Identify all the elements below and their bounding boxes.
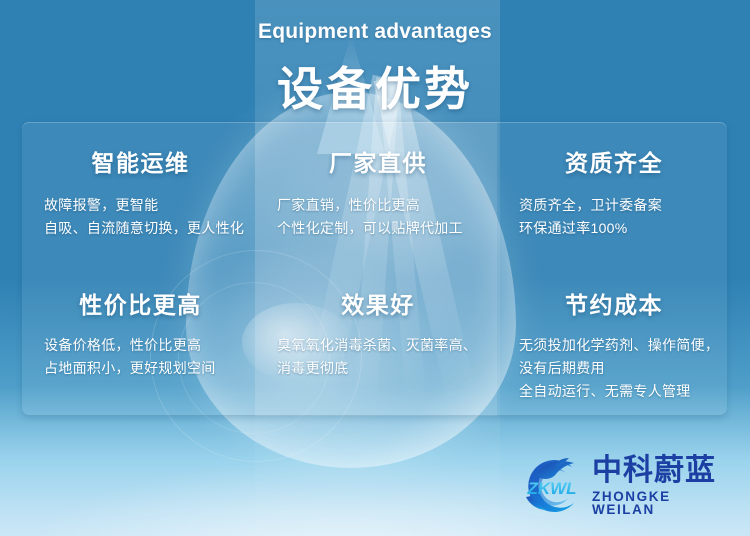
feature-description: 臭氧氧化消毒杀菌、灭菌率高、 消毒更彻底	[277, 334, 479, 380]
feature-line: 全自动运行、无需专人管理	[519, 380, 709, 403]
feature-description: 设备价格低，性价比更高 占地面积小，更好规划空间	[44, 334, 237, 380]
feature-line: 自吸、自流随意切换，更人性化	[44, 217, 237, 240]
logo-wordmark: 中科蔚蓝 ZHONGKE WEILAN	[592, 456, 738, 517]
feature-line: 无须投加化学药剂、操作简便，	[519, 334, 709, 357]
dolphin-circle-icon: ZKWL	[516, 453, 588, 519]
feature-line: 消毒更彻底	[277, 357, 479, 380]
feature-line: 设备价格低，性价比更高	[44, 334, 237, 357]
poster-canvas: Equipment advantages 设备优势 智能运维 故障报警，更智能 …	[0, 0, 750, 536]
page-title: 设备优势	[0, 53, 750, 119]
feature-description: 资质齐全，卫计委备案 环保通过率100%	[519, 194, 709, 240]
feature-line: 资质齐全，卫计委备案	[519, 194, 709, 217]
logo-name-en: ZHONGKE WEILAN	[592, 490, 738, 517]
feature-line: 厂家直销，性价比更高	[277, 194, 479, 217]
feature-line: 故障报警，更智能	[44, 194, 237, 217]
feature-description: 无须投加化学药剂、操作简便， 没有后期费用 全自动运行、无需专人管理	[519, 334, 709, 403]
feature-line: 环保通过率100%	[519, 217, 709, 240]
feature-title: 节约成本	[519, 286, 709, 320]
feature-cell-cost-performance: 性价比更高 设备价格低，性价比更高 占地面积小，更好规划空间	[22, 262, 255, 416]
features-grid: 智能运维 故障报警，更智能 自吸、自流随意切换，更人性化 厂家直供 厂家直销，性…	[22, 122, 727, 416]
feature-line: 个性化定制，可以贴牌代加工	[277, 217, 479, 240]
subtitle-english: Equipment advantages	[0, 20, 750, 44]
feature-line: 臭氧氧化消毒杀菌、灭菌率高、	[277, 334, 479, 357]
logo-name-cn: 中科蔚蓝	[592, 456, 738, 486]
feature-title: 厂家直供	[277, 144, 479, 178]
feature-description: 故障报警，更智能 自吸、自流随意切换，更人性化	[44, 194, 237, 240]
logo-mark-text: ZKWL	[526, 479, 576, 498]
feature-cell-qualifications: 资质齐全 资质齐全，卫计委备案 环保通过率100%	[497, 122, 727, 262]
company-logo: ZKWL 中科蔚蓝 ZHONGKE WEILAN	[516, 450, 738, 522]
feature-title: 性价比更高	[44, 286, 237, 320]
feature-description: 厂家直销，性价比更高 个性化定制，可以贴牌代加工	[277, 194, 479, 240]
feature-title: 智能运维	[44, 144, 237, 178]
feature-cell-smart-ops: 智能运维 故障报警，更智能 自吸、自流随意切换，更人性化	[22, 122, 255, 262]
feature-line: 占地面积小，更好规划空间	[44, 357, 237, 380]
feature-cell-cost-saving: 节约成本 无须投加化学药剂、操作简便， 没有后期费用 全自动运行、无需专人管理	[497, 262, 727, 416]
feature-line: 没有后期费用	[519, 357, 709, 380]
feature-title: 资质齐全	[519, 144, 709, 178]
feature-cell-factory-direct: 厂家直供 厂家直销，性价比更高 个性化定制，可以贴牌代加工	[255, 122, 497, 262]
feature-cell-effectiveness: 效果好 臭氧氧化消毒杀菌、灭菌率高、 消毒更彻底	[255, 262, 497, 416]
feature-title: 效果好	[277, 286, 479, 320]
features-panel: 智能运维 故障报警，更智能 自吸、自流随意切换，更人性化 厂家直供 厂家直销，性…	[22, 122, 727, 416]
